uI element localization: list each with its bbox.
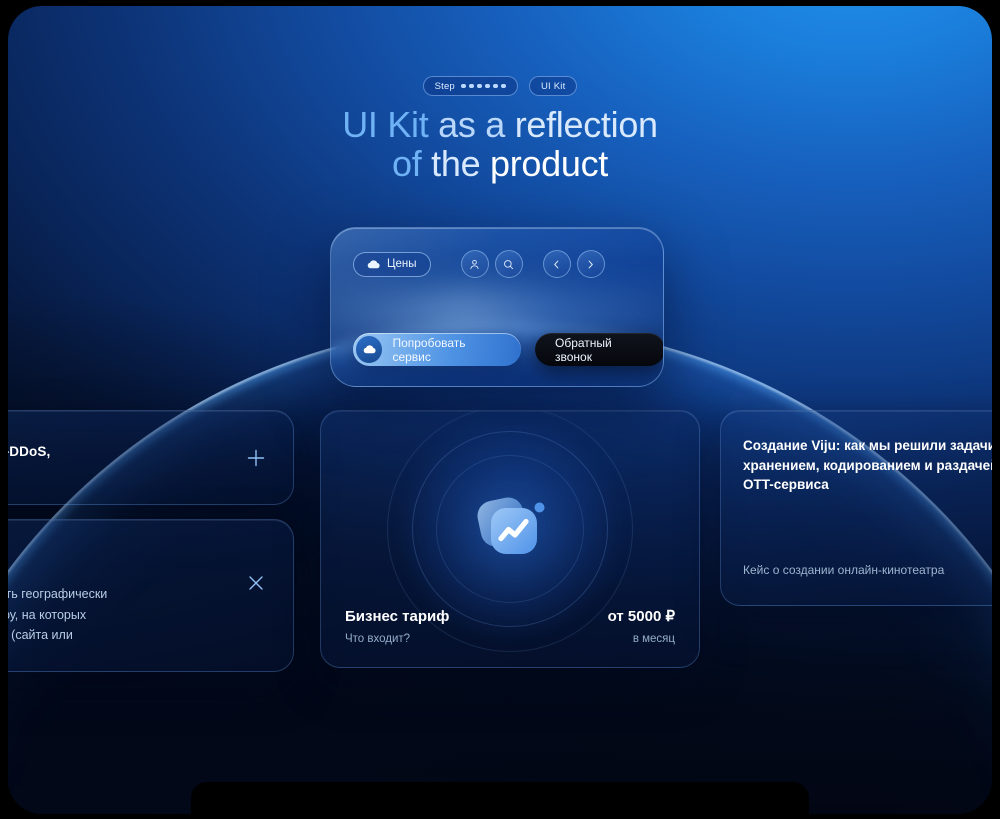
title-mid: as a (428, 104, 514, 145)
pricing-right: от 5000 ₽ в месяц (608, 607, 675, 645)
chart-app-icon (467, 486, 553, 572)
chevron-left-icon (551, 259, 562, 270)
title-line2-white: product (490, 143, 608, 184)
prices-pill-button[interactable]: Цены (353, 252, 431, 277)
title-line2-mid: the (431, 143, 490, 184)
callback-button[interactable]: Обратный звонок (535, 333, 664, 366)
title-accent: UI Kit (342, 104, 428, 145)
bottom-notch (191, 782, 809, 814)
cloud-icon (367, 260, 380, 269)
page-title-line-1: UI Kit as a reflection (8, 106, 992, 145)
toolbar-icon-group-left (461, 250, 523, 278)
try-service-button[interactable]: Попробовать сервис (353, 333, 521, 366)
page-title: UI Kit as a reflection of the product (8, 106, 992, 183)
callback-label: Обратный звонок (555, 336, 645, 364)
prices-pill-label: Цены (387, 258, 417, 270)
pricing-card[interactable]: Бизнес тариф Что входит? от 5000 ₽ в мес… (320, 410, 700, 668)
ui-kit-badge[interactable]: UI Kit (529, 76, 577, 96)
toolbar-bottom-row: Попробовать сервис Обратный звонок (353, 333, 664, 366)
page-title-line-2: of the product (8, 145, 992, 184)
pricing-footer: Бизнес тариф Что входит? от 5000 ₽ в мес… (345, 607, 675, 645)
account-icon-button[interactable] (461, 250, 489, 278)
title-rest: reflection (515, 104, 658, 145)
case-study-card[interactable]: Создание Viju: как мы решили задачи с хр… (720, 410, 992, 606)
case-study-title: Создание Viju: как мы решили задачи с хр… (743, 436, 992, 495)
toolbar-icon-buttons (461, 250, 605, 278)
account-icon (468, 258, 481, 271)
pricing-subtitle[interactable]: Что входит? (345, 633, 449, 645)
chevron-right-icon (585, 259, 596, 270)
header-badges: Step UI Kit (8, 76, 992, 96)
try-service-label: Попробовать сервис (392, 336, 505, 364)
search-icon (502, 258, 515, 271)
faq-question: уги CDN: Anti-DDoS, (8, 444, 223, 459)
toolbar-panel: Цены (330, 227, 664, 387)
toolbar-top-row: Цены (331, 228, 663, 278)
chevron-left-icon-button[interactable] (543, 250, 571, 278)
search-icon-button[interactable] (495, 250, 523, 278)
screenshot-stage: Step UI Kit UI Kit as a reflection of th… (0, 0, 1000, 819)
page-canvas: Step UI Kit UI Kit as a reflection of th… (8, 6, 992, 814)
cloud-badge-icon (356, 336, 382, 363)
pricing-title: Бизнес тариф (345, 608, 449, 625)
case-study-subtitle: Кейс о создании онлайн-кинотеатра (743, 561, 983, 579)
pricing-left: Бизнес тариф Что входит? (345, 608, 449, 645)
pricing-period: в месяц (608, 633, 675, 645)
step-dots (461, 84, 506, 89)
step-badge[interactable]: Step (423, 76, 518, 96)
close-icon[interactable] (245, 572, 267, 594)
chevron-right-icon-button[interactable] (577, 250, 605, 278)
faq-answer: тента) — это сеть географическиов по все… (8, 584, 229, 646)
pricing-amount: от 5000 ₽ (608, 607, 675, 625)
ui-kit-badge-label: UI Kit (541, 81, 565, 92)
faq-card-collapsed[interactable]: уги CDN: Anti-DDoS, (8, 410, 294, 505)
step-badge-label: Step (435, 81, 455, 92)
faq-card-expanded[interactable]: тента) — это сеть географическиов по все… (8, 519, 294, 672)
cards-row: уги CDN: Anti-DDoS, тента) — это сеть ге… (8, 410, 992, 672)
plus-icon[interactable] (245, 447, 267, 469)
toolbar-icon-group-right (543, 250, 605, 278)
title-line2-accent: of (392, 143, 431, 184)
